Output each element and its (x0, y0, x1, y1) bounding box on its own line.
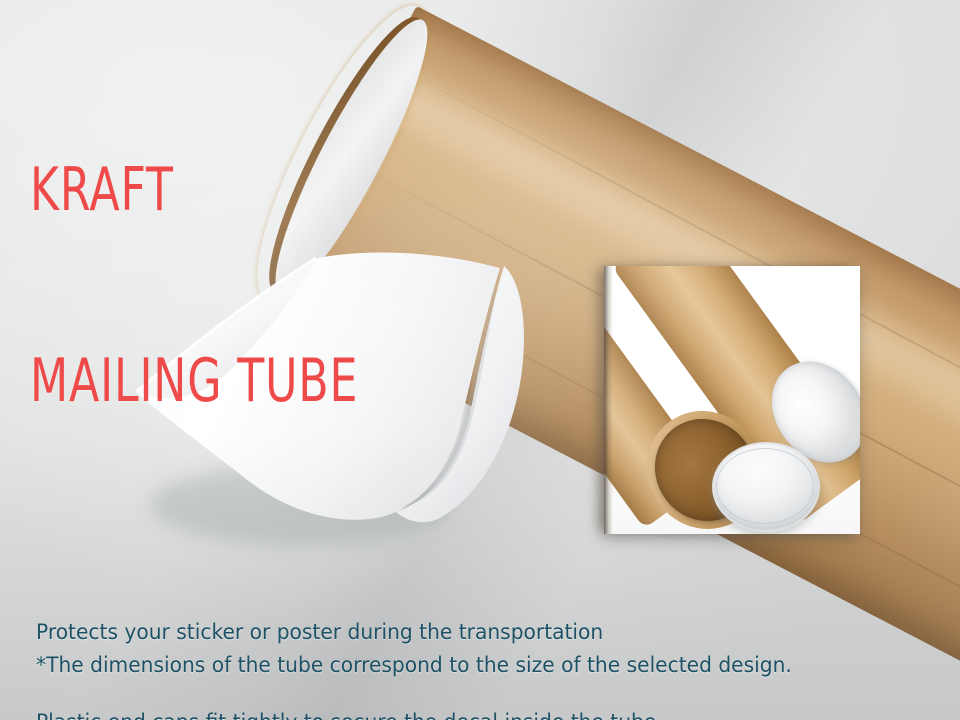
inset-left-edge-shadow (604, 266, 613, 534)
feature-line-1: Protects your sticker or poster during t… (36, 618, 656, 648)
inset-loose-cap-lip (716, 448, 814, 524)
feature-line-2: Plastic end caps fit tightly to secure t… (36, 708, 656, 720)
title-line-2: MAILING TUBE (30, 350, 358, 414)
inset-product-photo[interactable] (604, 266, 860, 534)
title-line-1: KRAFT (30, 159, 358, 223)
page-title: KRAFT MAILING TUBE (30, 32, 358, 541)
poster-canvas: KRAFT MAILING TUBE Protects your sticker… (0, 0, 960, 720)
feature-description: Protects your sticker or poster during t… (36, 558, 656, 720)
inset-photo-canvas (604, 266, 860, 534)
footnote-text: *The dimensions of the tube correspond t… (36, 652, 792, 680)
